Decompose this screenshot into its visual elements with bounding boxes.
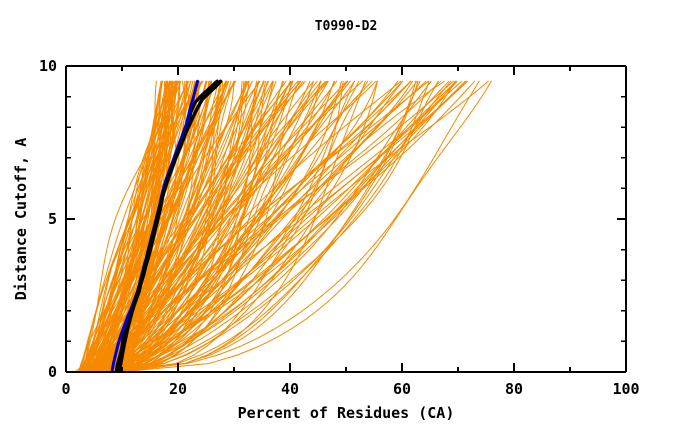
chart-container: T0990-D2 0204060801000510 Percent of Res… (0, 0, 680, 440)
x-axis-label: Percent of Residues (CA) (238, 404, 455, 422)
y-tick-label: 5 (48, 210, 57, 228)
x-tick-label: 40 (281, 380, 299, 398)
y-tick-label: 10 (39, 57, 57, 75)
x-tick-label: 100 (612, 380, 639, 398)
y-axis-label: Distance Cutoff, A (12, 138, 30, 301)
chart-title: T0990-D2 (315, 19, 378, 34)
x-tick-label: 60 (393, 380, 411, 398)
x-tick-label: 20 (169, 380, 187, 398)
x-tick-label: 0 (61, 380, 70, 398)
x-tick-label: 80 (505, 380, 523, 398)
y-tick-label: 0 (48, 363, 57, 381)
chart-svg: T0990-D2 0204060801000510 Percent of Res… (0, 0, 680, 440)
